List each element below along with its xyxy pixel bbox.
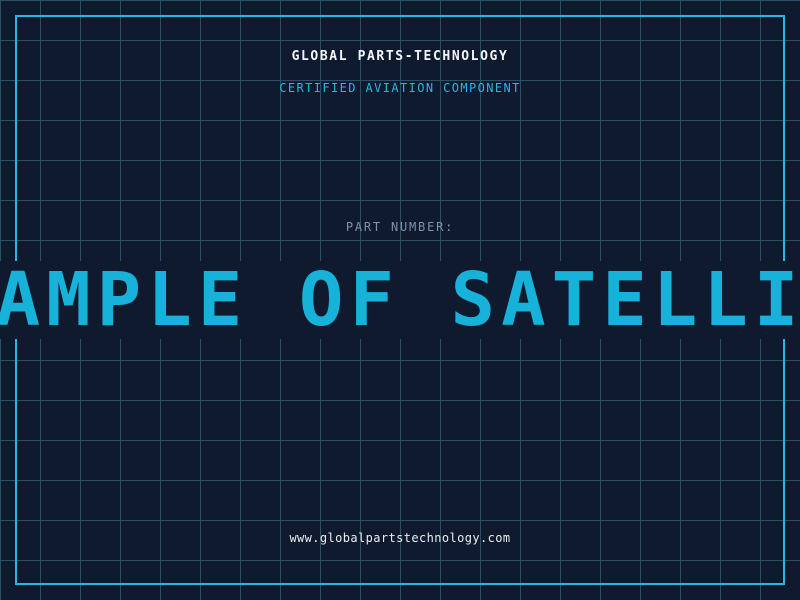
company-subtitle: CERTIFIED AVIATION COMPONENT bbox=[0, 81, 800, 96]
part-number-band: EXAMPLE OF SATELLITE bbox=[0, 261, 800, 339]
part-number-value: EXAMPLE OF SATELLITE bbox=[0, 261, 800, 339]
company-title: GLOBAL PARTS-TECHNOLOGY bbox=[0, 49, 800, 65]
website-footer: www.globalpartstechnology.com bbox=[0, 531, 800, 546]
part-number-label: PART NUMBER: bbox=[0, 220, 800, 235]
part-label-canvas: GLOBAL PARTS-TECHNOLOGY CERTIFIED AVIATI… bbox=[0, 0, 800, 600]
